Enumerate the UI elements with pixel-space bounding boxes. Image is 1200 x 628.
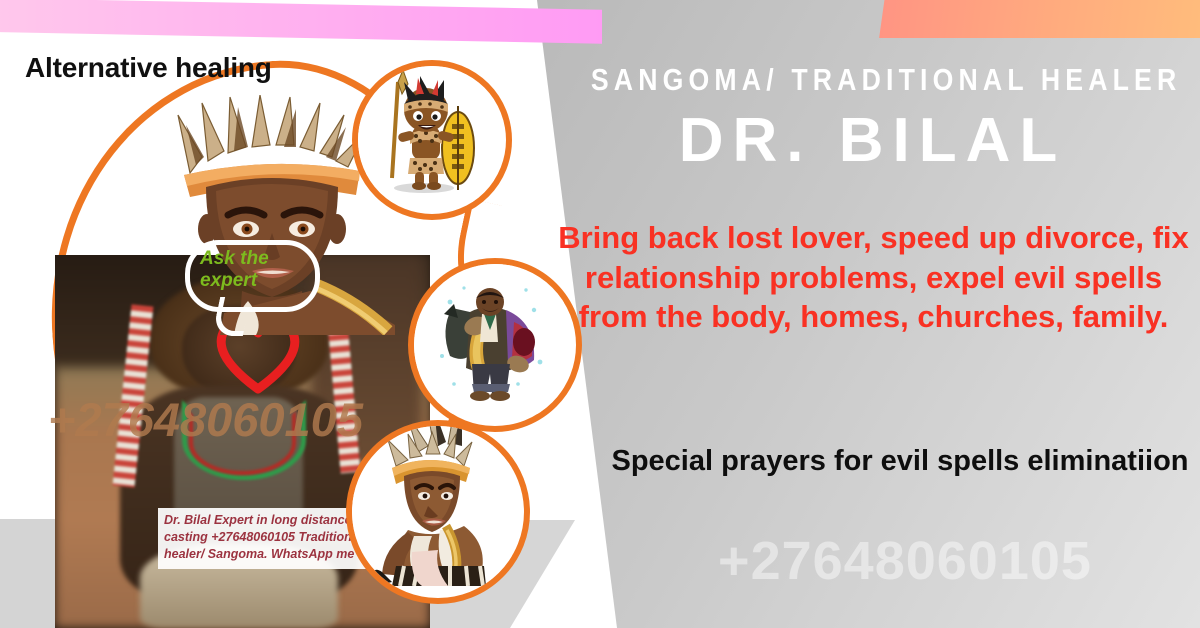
photo-phone-watermark: +27648060105 <box>48 392 363 447</box>
speech-bubble-text: Ask the expert <box>200 248 312 292</box>
special-offer-text: Special prayers for evil spells eliminat… <box>600 443 1200 481</box>
zulu-warrior-illustration <box>352 60 512 220</box>
phone-number-watermark: +27648060105 <box>605 530 1200 592</box>
service-kicker: SANGOMA/ TRADITIONAL HEALER <box>591 62 1154 98</box>
left-artwork-area: Alternative healing <box>0 0 600 628</box>
crouching-healer-illustration <box>346 420 530 604</box>
services-list: Bring back lost lover, speed up divorce,… <box>551 218 1196 337</box>
poster-canvas: Alternative healing <box>0 0 1200 628</box>
brand-name: DR. BILAL <box>545 105 1200 176</box>
page-title: Alternative healing <box>25 52 272 84</box>
right-text-column: SANGOMA/ TRADITIONAL HEALER DR. BILAL Br… <box>545 0 1200 628</box>
